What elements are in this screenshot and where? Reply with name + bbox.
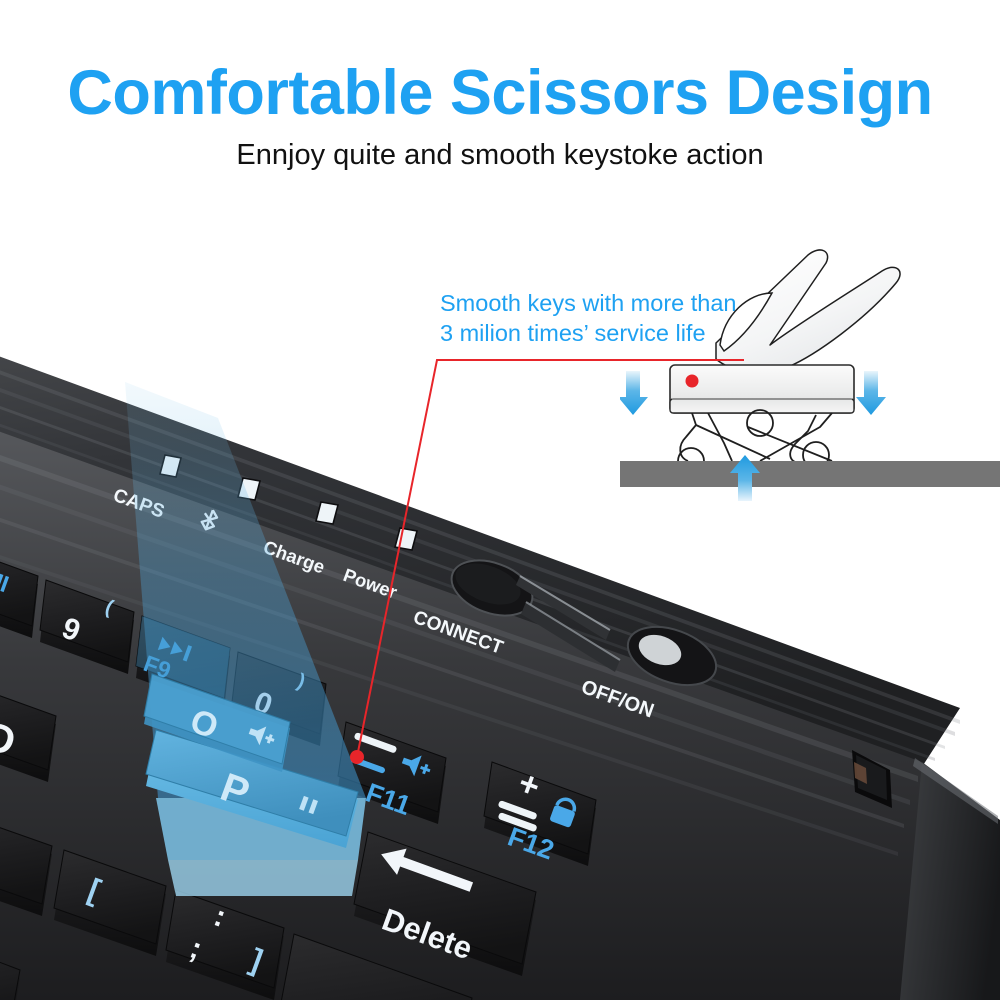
base-plate xyxy=(620,461,1000,487)
finger-illustration xyxy=(716,250,900,373)
down-arrow-left xyxy=(620,371,648,415)
scissor-mechanism xyxy=(678,410,832,468)
product-feature-image: Comfortable Scissors Design Ennjoy quite… xyxy=(0,0,1000,1000)
page-title: Comfortable Scissors Design xyxy=(0,62,1000,125)
callout-marker-dot xyxy=(686,375,699,388)
keycap xyxy=(670,365,854,413)
down-arrow-right xyxy=(856,371,886,415)
page-subtitle: Ennjoy quite and smooth keystoke action xyxy=(0,140,1000,172)
scissor-switch-diagram xyxy=(620,175,1000,505)
